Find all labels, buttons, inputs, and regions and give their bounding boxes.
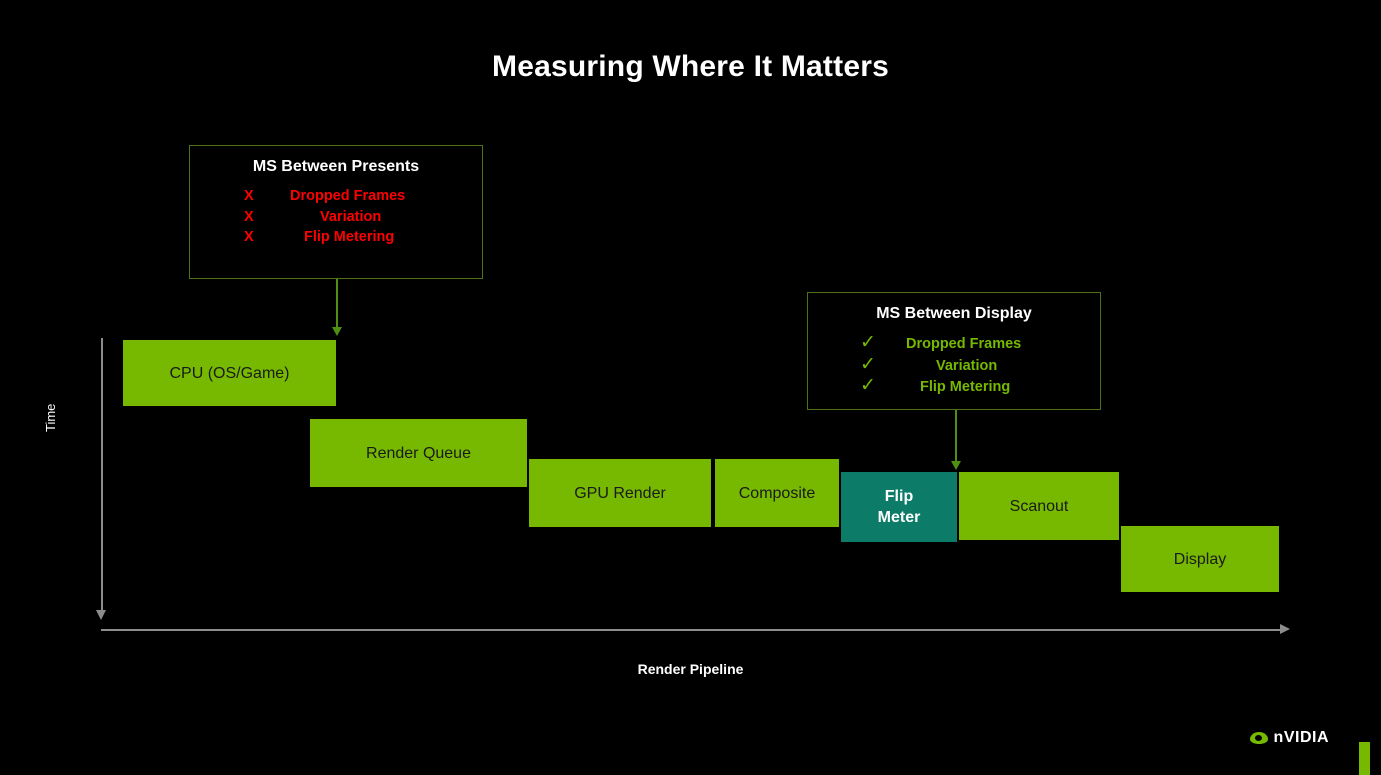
pipeline-block-gpu-render: GPU Render (529, 459, 711, 527)
pipeline-axis-line (101, 629, 1284, 631)
callout-item: ✓ Variation (860, 355, 1100, 377)
callout-item: ✓ Dropped Frames (860, 333, 1100, 355)
connector-presents-to-cpu (336, 279, 338, 329)
connector-display-arrowhead (951, 461, 961, 470)
cross-icon: X (244, 227, 290, 248)
callout-item-label: Variation (906, 356, 997, 377)
pipeline-block-composite: Composite (715, 459, 839, 527)
callout-item-label: Dropped Frames (906, 334, 1021, 355)
callout-ms-between-display: MS Between Display ✓ Dropped Frames ✓ Va… (807, 292, 1101, 410)
corner-accent-bar (1359, 742, 1370, 775)
callout-item-label: Dropped Frames (290, 186, 405, 207)
check-icon: ✓ (860, 333, 906, 354)
time-axis-line (101, 338, 103, 612)
cross-icon: X (244, 186, 290, 207)
time-axis-arrowhead (96, 610, 106, 620)
cross-icon: X (244, 207, 290, 228)
pipeline-block-cpu: CPU (OS/Game) (123, 340, 336, 406)
callout-item: X Variation (244, 207, 482, 228)
pipeline-block-render-queue: Render Queue (310, 419, 527, 487)
check-icon: ✓ (860, 355, 906, 376)
connector-display-to-flipmeter (955, 410, 957, 463)
nvidia-eye-icon (1250, 732, 1268, 744)
pipeline-block-flip-meter: Flip Meter (841, 472, 957, 542)
time-axis-label: Time (43, 404, 58, 432)
callout-list-display: ✓ Dropped Frames ✓ Variation ✓ Flip Mete… (808, 333, 1100, 398)
callout-list-presents: X Dropped Frames X Variation X Flip Mete… (190, 186, 482, 248)
callout-item: X Dropped Frames (244, 186, 482, 207)
slide-canvas: Measuring Where It Matters MS Between Pr… (0, 0, 1381, 775)
callout-item: X Flip Metering (244, 227, 482, 248)
page-title: Measuring Where It Matters (0, 50, 1381, 84)
connector-presents-arrowhead (332, 327, 342, 336)
nvidia-logo: nVIDIA (1250, 729, 1329, 747)
pipeline-block-scanout: Scanout (959, 472, 1119, 540)
pipeline-block-display: Display (1121, 526, 1279, 592)
callout-item-label: Flip Metering (290, 227, 394, 248)
callout-ms-between-presents: MS Between Presents X Dropped Frames X V… (189, 145, 483, 279)
nvidia-wordmark: nVIDIA (1274, 729, 1329, 747)
callout-item: ✓ Flip Metering (860, 376, 1100, 398)
callout-title-presents: MS Between Presents (190, 158, 482, 176)
pipeline-axis-arrowhead (1280, 624, 1290, 634)
callout-item-label: Flip Metering (906, 377, 1010, 398)
callout-item-label: Variation (290, 207, 381, 228)
callout-title-display: MS Between Display (808, 305, 1100, 323)
pipeline-axis-label: Render Pipeline (0, 661, 1381, 677)
check-icon: ✓ (860, 376, 906, 397)
